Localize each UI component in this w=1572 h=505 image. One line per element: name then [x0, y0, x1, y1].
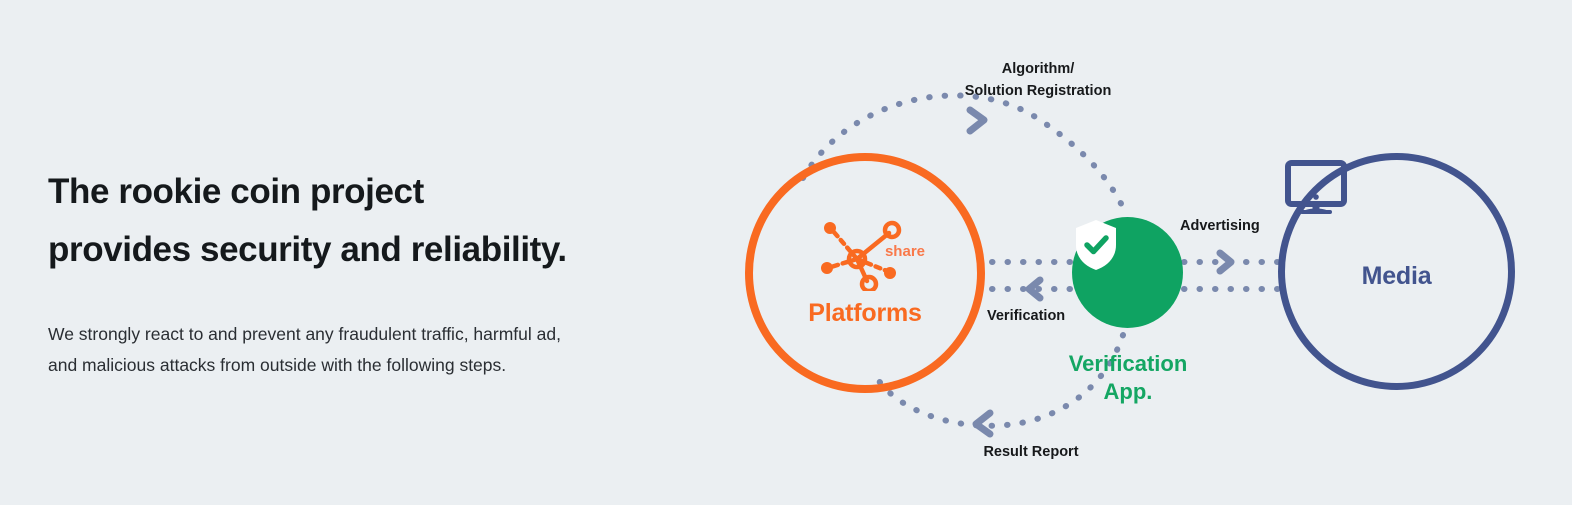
edge-label-result-report: Result Report [926, 441, 1136, 463]
headline-line-1: The rookie coin project [48, 163, 668, 221]
body-line-2: and malicious attacks from outside with … [48, 350, 668, 381]
body-line-1: We strongly react to and prevent any fra… [48, 319, 668, 350]
verification-label-line-2: App. [1017, 378, 1239, 406]
node-media-label: Media [1362, 262, 1432, 291]
edge-label-verification: Verification [987, 305, 1065, 327]
body-text: We strongly react to and prevent any fra… [48, 319, 668, 381]
algorithm-label-line-1: Algorithm/ [913, 58, 1163, 80]
bottom-arc-arrow-icon [976, 413, 990, 434]
copy-block: The rookie coin project provides securit… [48, 163, 668, 381]
node-verification-app[interactable] [1072, 217, 1183, 328]
page-root: The rookie coin project provides securit… [0, 0, 1572, 505]
flow-diagram: share Platforms Verification App. Me [700, 0, 1572, 505]
shield-check-icon [1072, 217, 1120, 273]
headline-line-2: provides security and reliability. [48, 221, 668, 279]
algorithm-label-line-2: Solution Registration [913, 80, 1163, 102]
node-media[interactable]: Media [1278, 153, 1515, 390]
page-title: The rookie coin project provides securit… [48, 163, 668, 279]
edge-label-advertising: Advertising [1180, 215, 1260, 237]
desktop-monitor-icon [1285, 160, 1347, 216]
share-network-icon: share [811, 219, 919, 291]
node-platforms[interactable]: share Platforms [745, 153, 985, 393]
node-verification-app-label: Verification App. [1017, 350, 1239, 406]
top-arc-arrow-icon [970, 110, 984, 131]
edge-label-algorithm-registration: Algorithm/ Solution Registration [913, 58, 1163, 102]
verification-label-line-1: Verification [1017, 350, 1239, 378]
advertising-arrow-icon [1220, 253, 1231, 271]
node-platforms-label: Platforms [808, 299, 922, 328]
share-icon-caption: share [885, 243, 925, 260]
